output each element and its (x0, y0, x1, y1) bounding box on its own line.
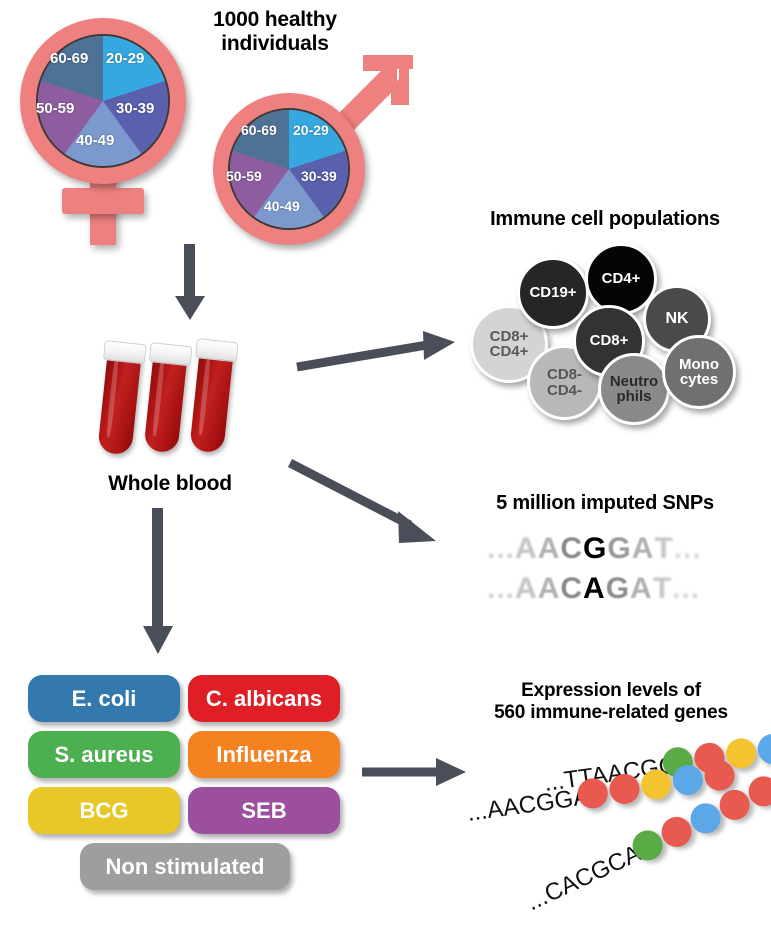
snp-sequence-row-2: ...AACAGAT... (487, 572, 700, 606)
cell-label-line1: Mono (679, 357, 719, 372)
stimulus-pill-c-albicans[interactable]: C. albicans (188, 675, 340, 722)
tube-blood-fill (143, 352, 187, 453)
male-pie-label-20-29: 20-29 (293, 122, 329, 138)
stimulus-pill-e-coli[interactable]: E. coli (28, 675, 180, 722)
tube-cap (195, 338, 238, 362)
cell-label-line1: CD8- (547, 367, 582, 382)
male-pie-label-60-69: 60-69 (241, 122, 277, 138)
cohort-title-line1: 1000 healthy (170, 8, 380, 32)
cell-label-line2: phils (616, 389, 651, 404)
blood-tube (97, 341, 143, 456)
whole-blood-label: Whole blood (70, 472, 270, 496)
cell-label-line2: CD4- (547, 383, 582, 398)
snp-base: A (632, 532, 655, 566)
snp-ellipsis-right: ... (672, 572, 700, 606)
tube-cap (149, 342, 192, 366)
arrow-stimuli-to-expression (360, 752, 470, 792)
expression-title: Expression levels of 560 immune-related … (455, 680, 767, 724)
strand-bead (608, 772, 642, 806)
snp-base: G (606, 572, 630, 606)
cell-label-line2: CD4+ (490, 344, 529, 359)
snp-base: C (560, 572, 583, 606)
snp-base: A (538, 532, 561, 566)
snp-variant-base: G (583, 532, 607, 566)
stimulus-label: Influenza (216, 742, 311, 768)
immune-title: Immune cell populations (450, 208, 760, 231)
snp-base: T (653, 572, 672, 606)
arrow-cohort-to-blood (170, 244, 210, 324)
female-symbol: 20-29 30-39 40-49 50-59 60-69 (10, 10, 195, 240)
snp-base: T (654, 532, 673, 566)
snp-base: A (515, 572, 538, 606)
blood-tube (189, 339, 235, 454)
female-pie-label-20-29: 20-29 (106, 50, 144, 67)
cell-label: CD19+ (529, 285, 576, 300)
immune-cell-neutrophils: Neutro phils (598, 353, 670, 425)
tube-blood-fill (189, 348, 233, 453)
stimulus-pill-s-aureus[interactable]: S. aureus (28, 731, 180, 778)
snp-ellipsis-left: ... (487, 572, 515, 606)
male-pie-label-40-49: 40-49 (264, 198, 300, 214)
stimuli-panel: E. coli C. albicans S. aureus Influenza … (28, 675, 348, 895)
stimulus-label: Non stimulated (106, 854, 265, 880)
cell-label-line1: Neutro (610, 374, 658, 389)
snp-title: 5 million imputed SNPs (455, 492, 755, 515)
arrow-blood-to-immune (295, 325, 460, 380)
female-pie-label-40-49: 40-49 (76, 132, 114, 149)
female-stem-horizontal (62, 188, 144, 214)
snp-base: G (607, 532, 631, 566)
tube-blood-fill (97, 350, 141, 455)
snp-variant-base: A (583, 572, 606, 606)
figure-canvas: 1000 healthy individuals 20-29 30-39 40-… (0, 0, 771, 922)
immune-cell-cluster: CD8+ CD4+ CD19+ CD8- CD4- CD4+ CD8+ Neut… (455, 235, 765, 425)
snp-base: A (538, 572, 561, 606)
stimulus-label: E. coli (72, 686, 137, 712)
male-pie-label-50-59: 50-59 (226, 168, 262, 184)
arrow-blood-to-stimuli (138, 508, 178, 656)
stimulus-label: BCG (80, 798, 129, 824)
female-pie-label-60-69: 60-69 (50, 50, 88, 67)
strand-bead (639, 768, 673, 802)
cell-label-line2: cytes (680, 372, 718, 387)
snp-base: A (630, 572, 653, 606)
snp-base: A (515, 532, 538, 566)
snp-sequence-row-1: ...AACGGAT... (487, 532, 702, 566)
male-symbol: 20-29 30-39 40-49 50-59 60-69 (205, 55, 410, 250)
stimulus-pill-non-stimulated[interactable]: Non stimulated (80, 843, 290, 890)
snp-ellipsis-left: ... (487, 532, 515, 566)
blood-tube (143, 343, 188, 454)
cohort-title: 1000 healthy individuals (170, 8, 380, 56)
stimulus-pill-influenza[interactable]: Influenza (188, 731, 340, 778)
male-pie-label-30-39: 30-39 (301, 168, 337, 184)
expression-title-line1: Expression levels of (455, 680, 767, 702)
stimulus-pill-bcg[interactable]: BCG (28, 787, 180, 834)
stimulus-label: S. aureus (54, 742, 153, 768)
expression-title-line2: 560 immune-related genes (455, 702, 767, 724)
snp-ellipsis-right: ... (674, 532, 702, 566)
female-pie-label-30-39: 30-39 (116, 100, 154, 117)
blood-tubes-group (95, 338, 265, 458)
strand-bead (671, 763, 705, 797)
cell-label-line1: CD8+ (490, 329, 529, 344)
female-pie-label-50-59: 50-59 (36, 100, 74, 117)
cell-label: CD4+ (602, 271, 641, 286)
strand-bead (756, 732, 771, 766)
stimulus-pill-seb[interactable]: SEB (188, 787, 340, 834)
snp-base: C (560, 532, 583, 566)
arrow-blood-to-snps (288, 455, 453, 550)
stimulus-label: C. albicans (206, 686, 322, 712)
immune-cell-monocytes: Mono cytes (662, 335, 736, 409)
stimulus-label: SEB (241, 798, 286, 824)
tube-cap (103, 340, 146, 364)
cell-label: CD8+ (590, 333, 629, 348)
cell-label: NK (665, 311, 688, 327)
immune-cell-cd19p: CD19+ (517, 257, 589, 329)
